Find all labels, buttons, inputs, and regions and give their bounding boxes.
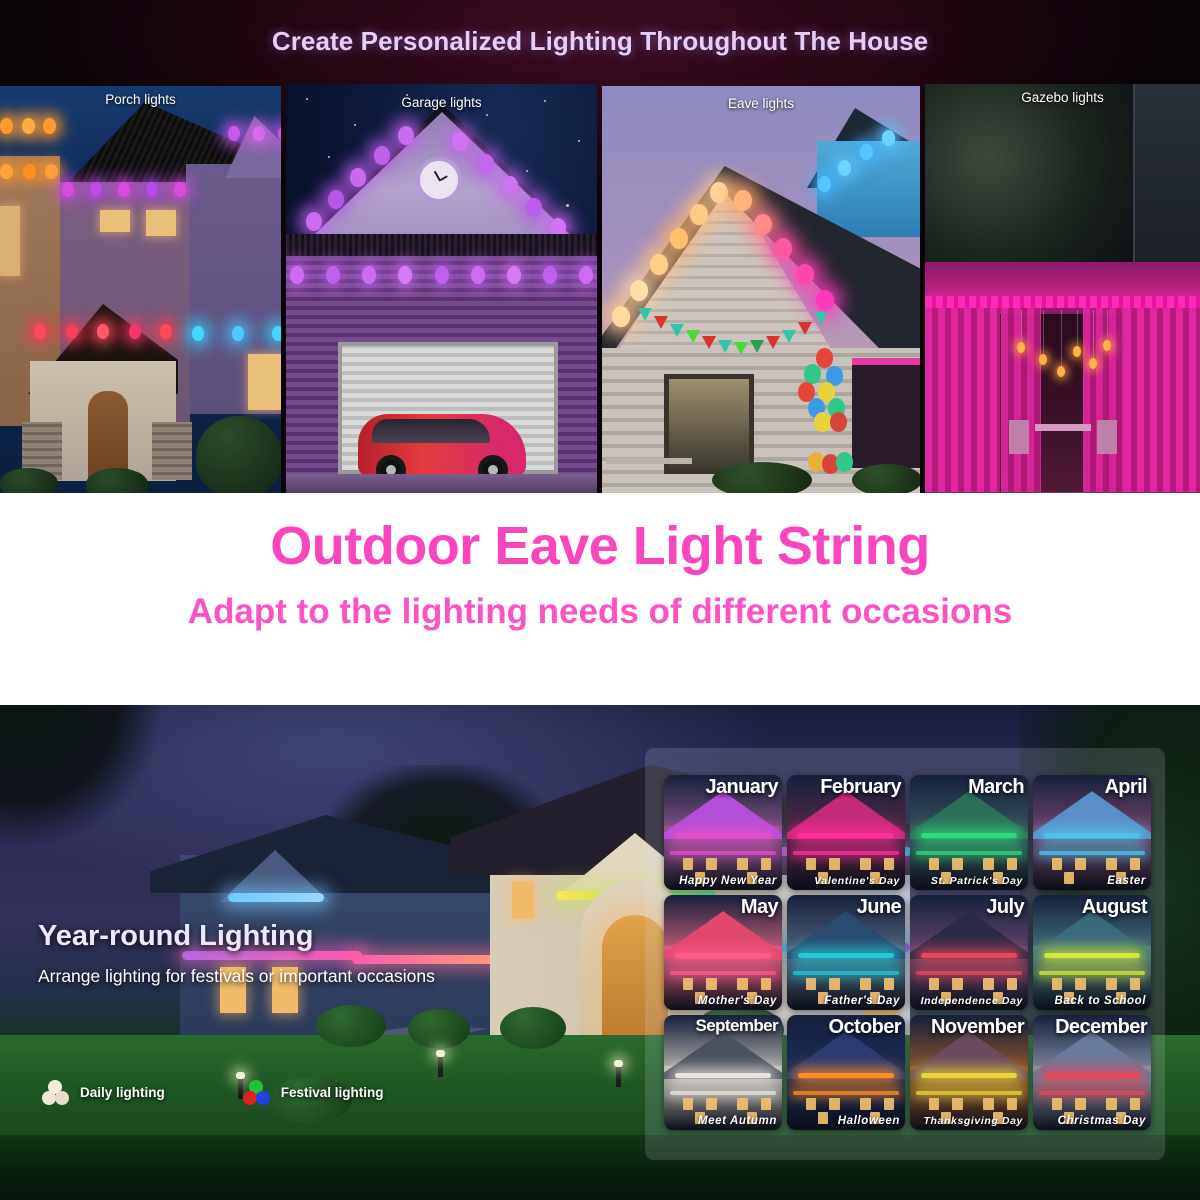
calendar-month-name: June — [857, 896, 901, 919]
year-round-title: Year-round Lighting — [38, 920, 314, 953]
garage-opening — [852, 358, 920, 468]
legend-label-festival: Festival lighting — [281, 1085, 384, 1100]
window — [146, 210, 176, 236]
calendar-card[interactable]: AprilEaster — [1033, 775, 1151, 890]
led-string-eave — [670, 971, 776, 975]
bush — [316, 1005, 386, 1047]
calendar-month-name: August — [1082, 896, 1147, 919]
window — [761, 858, 772, 871]
calendar-card[interactable]: AugustBack to School — [1033, 895, 1151, 1010]
led-string-accent — [921, 953, 1018, 958]
window — [1130, 978, 1141, 991]
window — [952, 858, 963, 871]
window — [737, 978, 748, 991]
calendar-month-name: September — [696, 1016, 778, 1036]
window — [983, 978, 994, 991]
led-string-accent — [675, 1073, 772, 1078]
window — [706, 1098, 717, 1111]
window — [860, 858, 871, 871]
led-string-purple — [62, 182, 186, 197]
calendar-card[interactable]: JuneFather's Day — [787, 895, 905, 1010]
led-string-eave — [1039, 851, 1145, 855]
window — [512, 881, 534, 919]
window — [929, 1098, 940, 1111]
calendar-month-grid: JanuaryHappy New YearFebruaryValentine's… — [664, 775, 1152, 1140]
bush — [196, 416, 281, 493]
window — [1007, 1098, 1018, 1111]
calendar-card[interactable]: JulyIndependence Day — [910, 895, 1028, 1010]
roof-edge — [286, 234, 597, 256]
curtain-mid-right — [1083, 308, 1125, 493]
window — [983, 1098, 994, 1111]
calendar-occasion-label: Father's Day — [824, 995, 900, 1007]
window — [761, 978, 772, 991]
window — [884, 1098, 895, 1111]
building-right — [1133, 84, 1200, 284]
panel-gazebo-lights: Gazebo lights — [925, 84, 1200, 493]
bush — [86, 468, 148, 493]
bush — [408, 1009, 470, 1049]
window — [1106, 1098, 1117, 1111]
red-car — [358, 414, 526, 476]
calendar-card[interactable]: JanuaryHappy New Year — [664, 775, 782, 890]
palm-tree-left — [0, 705, 160, 845]
window — [829, 858, 840, 871]
window — [1052, 1098, 1063, 1111]
window — [737, 1098, 748, 1111]
calendar-month-name: December — [1055, 1016, 1147, 1039]
led-string-eave — [670, 851, 776, 855]
calendar-card[interactable]: OctoberHalloween — [787, 1015, 905, 1130]
window — [1064, 872, 1075, 885]
banner-title: Create Personalized Lighting Throughout … — [0, 26, 1200, 57]
led-string-accent — [921, 833, 1018, 838]
panel-porch-lights: Porch lights — [0, 86, 281, 493]
window — [706, 858, 717, 871]
spotlight — [616, 1065, 621, 1087]
window — [884, 858, 895, 871]
calendar-occasion-label: Mother's Day — [698, 995, 777, 1007]
window — [929, 858, 940, 871]
panel-label-garage: Garage lights — [286, 95, 597, 110]
calendar-card[interactable]: NovemberThanksgiving Day — [910, 1015, 1028, 1130]
window — [706, 978, 717, 991]
window — [1052, 858, 1063, 871]
panel-label-eave: Eave lights — [602, 96, 920, 111]
led-string-accent — [675, 833, 772, 838]
window — [1075, 978, 1086, 991]
led-string-eave — [793, 1091, 899, 1095]
spotlight — [438, 1055, 443, 1077]
led-string-eave — [1039, 971, 1145, 975]
window — [860, 1098, 871, 1111]
window — [952, 978, 963, 991]
window — [806, 1098, 817, 1111]
top-panel-row: Porch lights — [0, 84, 1200, 493]
top-showcase-section: Create Personalized Lighting Throughout … — [0, 0, 1200, 493]
led-string-gable-purple — [228, 126, 281, 141]
window — [829, 978, 840, 991]
calendar-occasion-label: Back to School — [1055, 995, 1146, 1007]
led-string-accent — [798, 833, 895, 838]
window — [829, 1098, 840, 1111]
calendar-month-name: March — [968, 776, 1024, 799]
shrub — [712, 462, 812, 493]
calendar-card[interactable]: DecemberChristmas Day — [1033, 1015, 1151, 1130]
window — [683, 858, 694, 871]
led-string-accent — [1044, 833, 1141, 838]
window — [884, 978, 895, 991]
gazebo-beam — [925, 262, 1200, 296]
car-window — [372, 419, 490, 443]
led-string-accent — [798, 953, 895, 958]
window — [860, 978, 871, 991]
led-string-cyan — [192, 326, 281, 341]
calendar-card[interactable]: FebruaryValentine's Day — [787, 775, 905, 890]
led-string-eave — [793, 971, 899, 975]
window — [1007, 978, 1018, 991]
wall-clock-icon — [416, 157, 462, 203]
window — [1130, 1098, 1141, 1111]
window — [806, 858, 817, 871]
panel-garage-lights: Garage lights — [286, 84, 597, 493]
led-string-eave — [1039, 1091, 1145, 1095]
led-string-pink-pergola — [925, 296, 1200, 308]
calendar-occasion-label: Independence Day — [921, 995, 1023, 1007]
panel-label-gazebo: Gazebo lights — [925, 90, 1200, 105]
led-string-accent — [675, 953, 772, 958]
calendar-occasion-label: Easter — [1107, 875, 1146, 887]
window — [1007, 858, 1018, 871]
patio-table — [1035, 424, 1091, 431]
calendar-occasion-label: Christmas Day — [1058, 1115, 1146, 1127]
product-headline: Outdoor Eave Light String — [0, 515, 1200, 577]
window — [952, 1098, 963, 1111]
calendar-month-name: January — [705, 776, 778, 799]
window — [929, 978, 940, 991]
calendar-month-name: February — [820, 776, 901, 799]
panel-label-porch: Porch lights — [0, 92, 281, 107]
product-subheadline: Adapt to the lighting needs of different… — [0, 592, 1200, 632]
window — [100, 210, 130, 232]
calendar-month-name: November — [931, 1016, 1024, 1039]
window — [683, 1098, 694, 1111]
calendar-month-name: April — [1104, 776, 1147, 799]
led-string-eave — [916, 851, 1022, 855]
led-string-eave — [916, 971, 1022, 975]
calendar-month-name: July — [986, 896, 1024, 919]
window — [1075, 858, 1086, 871]
window — [1052, 978, 1063, 991]
calendar-card[interactable]: MarchSt. Patrick's Day — [910, 775, 1028, 890]
led-string-orange — [0, 118, 56, 134]
curtain-left — [925, 308, 1001, 493]
patio-table — [606, 458, 692, 464]
led-string-accent — [798, 1073, 895, 1078]
shrub — [852, 464, 920, 493]
calendar-card[interactable]: SeptemberMeet Autumn — [664, 1015, 782, 1130]
window — [683, 978, 694, 991]
curtain-right — [1124, 308, 1200, 493]
trees — [925, 84, 1135, 269]
calendar-month-name: May — [741, 896, 778, 919]
calendar-occasion-label: Happy New Year — [679, 875, 777, 887]
calendar-occasion-label: St. Patrick's Day — [931, 875, 1023, 887]
window — [1106, 858, 1117, 871]
product-marketing-page: Create Personalized Lighting Throughout … — [0, 0, 1200, 1200]
led-string-eave — [793, 851, 899, 855]
calendar-occasion-label: Halloween — [838, 1115, 900, 1127]
calendar-card[interactable]: MayMother's Day — [664, 895, 782, 1010]
window — [0, 206, 20, 276]
calendar-occasion-label: Valentine's Day — [814, 875, 900, 887]
led-string-accent — [1044, 953, 1141, 958]
window — [806, 978, 817, 991]
led-string-garage-purple — [290, 266, 593, 284]
legend-item-festival: Festival lighting — [243, 1080, 384, 1105]
window — [737, 858, 748, 871]
window — [1106, 978, 1117, 991]
year-round-subtitle: Arrange lighting for festivals or import… — [38, 966, 435, 987]
stone-column-right — [152, 422, 192, 480]
window — [1130, 858, 1141, 871]
window — [818, 1112, 829, 1125]
bush — [500, 1007, 566, 1049]
window — [248, 354, 281, 410]
three-white-circles-icon — [42, 1080, 69, 1105]
legend-item-daily: Daily lighting — [42, 1080, 165, 1105]
led-string-eave — [670, 1091, 776, 1095]
window — [1075, 1098, 1086, 1111]
calendar-occasion-label: Thanksgiving Day — [924, 1115, 1023, 1127]
led-string-eave — [916, 1091, 1022, 1095]
led-string-blue-left — [228, 893, 324, 902]
driveway — [286, 474, 597, 493]
chair-right — [1097, 420, 1117, 454]
bush — [0, 468, 58, 493]
led-string-magenta-left — [352, 955, 502, 964]
led-string-accent — [921, 1073, 1018, 1078]
led-string-red-arch — [34, 324, 172, 339]
lighting-mode-legend: Daily lighting Festival lighting — [42, 1080, 384, 1105]
chair-left — [1009, 420, 1029, 454]
three-rgb-circles-icon — [243, 1080, 270, 1105]
calendar-month-name: October — [829, 1016, 901, 1039]
window — [761, 1098, 772, 1111]
led-string-orange-2 — [0, 164, 58, 179]
headline-section: Outdoor Eave Light String Adapt to the l… — [0, 493, 1200, 705]
led-string-accent — [1044, 1073, 1141, 1078]
window — [983, 858, 994, 871]
legend-label-daily: Daily lighting — [80, 1085, 165, 1100]
calendar-occasion-label: Meet Autumn — [698, 1115, 777, 1127]
panel-eave-lights: Eave lights — [602, 86, 920, 493]
